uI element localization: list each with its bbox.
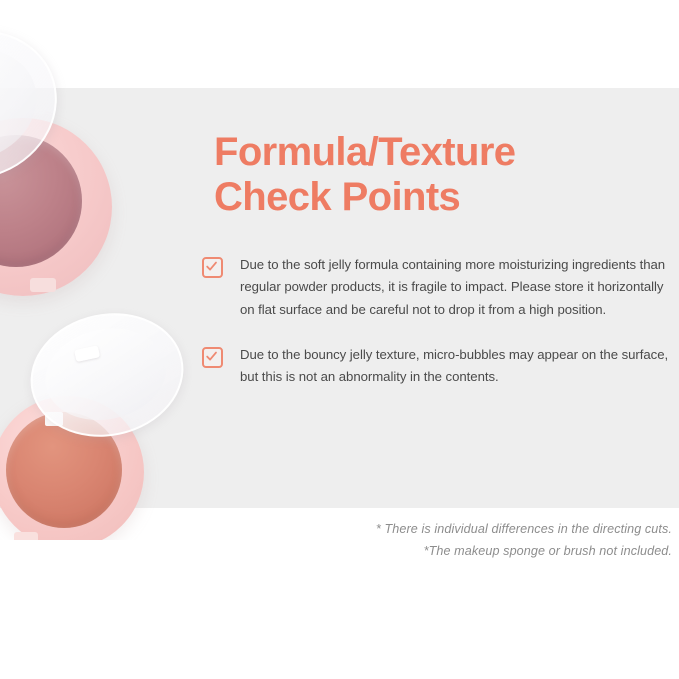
product-detail-page: Formula/Texture Check Points Due to the … <box>0 0 679 679</box>
checkbox-checked-icon <box>202 347 223 368</box>
footnote-line: *The makeup sponge or brush not included… <box>202 540 672 562</box>
checkbox-checked-icon <box>202 257 223 278</box>
check-point-item: Due to the bouncy jelly texture, micro-b… <box>202 344 672 389</box>
compact-notch-coral <box>14 532 38 540</box>
check-point-text: Due to the soft jelly formula containing… <box>240 254 672 322</box>
check-points-list: Due to the soft jelly formula containing… <box>202 254 672 390</box>
page-title: Formula/Texture Check Points <box>214 130 672 220</box>
footnote-line: * There is individual differences in the… <box>202 518 672 540</box>
check-point-text: Due to the bouncy jelly texture, micro-b… <box>240 344 672 389</box>
content-column: Formula/Texture Check Points Due to the … <box>202 130 672 411</box>
check-point-item: Due to the soft jelly formula containing… <box>202 254 672 322</box>
footnotes: * There is individual differences in the… <box>202 518 672 562</box>
